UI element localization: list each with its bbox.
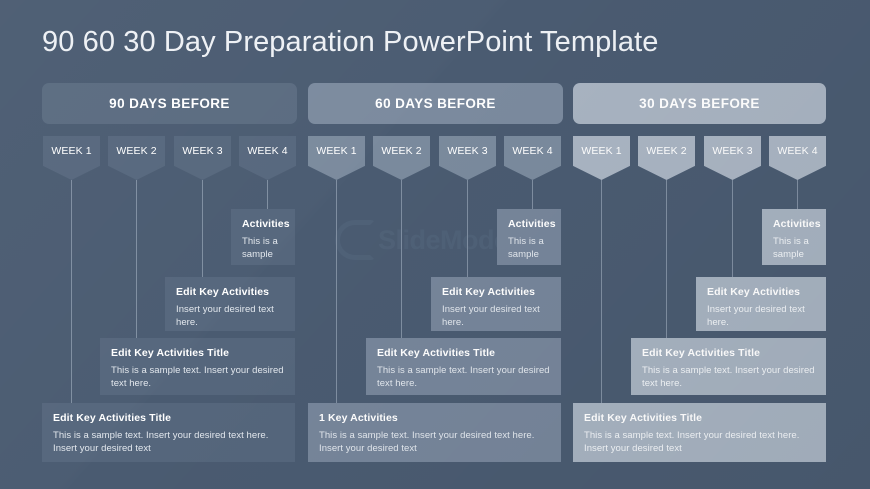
card-title: Edit Key Activities [707,286,815,299]
card-body: This is a sample text. Insert your desir… [319,429,550,457]
card-title: 1 Key Activities [319,412,550,425]
connector-line-week-1 [71,180,72,404]
card-body: This is a sample text. Insert your desir… [53,429,284,457]
connector-line-week-2 [401,180,402,339]
week-marker-label: WEEK 3 [447,145,487,157]
week-marker-1[interactable]: WEEK 1 [573,136,630,180]
week-marker-2[interactable]: WEEK 2 [638,136,695,180]
column-header-90-days[interactable]: 90 DAYS BEFORE [42,83,297,124]
card-title: Activities [242,218,284,231]
activity-card-week-3[interactable]: Edit Key Activities Insert your desired … [696,277,826,331]
card-title: Edit Key Activities Title [377,347,550,360]
connector-line-week-1 [601,180,602,404]
week-marker-label: WEEK 3 [712,145,752,157]
slide-canvas: SlideModel 90 60 30 Day Preparation Powe… [0,0,870,489]
connector-line-week-3 [732,180,733,278]
week-marker-3[interactable]: WEEK 3 [439,136,496,180]
week-marker-label: WEEK 4 [777,145,817,157]
week-marker-label: WEEK 1 [581,145,621,157]
activity-card-week-3[interactable]: Edit Key Activities Insert your desired … [431,277,561,331]
card-title: Edit Key Activities Title [642,347,815,360]
card-body: Insert your desired text here. [442,303,550,331]
card-body: This is a sample text. Insert your desir… [584,429,815,457]
activity-card-week-1[interactable]: Edit Key Activities Title This is a samp… [573,403,826,462]
card-body: This is a sample text. Insert your desir… [642,364,815,392]
activity-card-week-1[interactable]: Edit Key Activities Title This is a samp… [42,403,295,462]
activity-card-week-1[interactable]: 1 Key Activities This is a sample text. … [308,403,561,462]
connector-line-week-3 [467,180,468,278]
card-body: Insert your desired text here. [176,303,284,331]
week-marker-label: WEEK 2 [381,145,421,157]
card-body: This is a sample text. [773,235,815,265]
card-body: This is a sample text. Insert your desir… [377,364,550,392]
connector-line-week-2 [666,180,667,339]
activity-card-week-4[interactable]: Activities This is a sample text. [231,209,295,265]
week-marker-1[interactable]: WEEK 1 [43,136,100,180]
week-marker-label: WEEK 2 [116,145,156,157]
week-marker-4[interactable]: WEEK 4 [769,136,826,180]
week-marker-4[interactable]: WEEK 4 [239,136,296,180]
activity-card-week-2[interactable]: Edit Key Activities Title This is a samp… [366,338,561,395]
connector-line-week-1 [336,180,337,404]
column-header-label: 30 DAYS BEFORE [639,96,760,111]
watermark-text: SlideModel [378,225,516,256]
card-title: Edit Key Activities [442,286,550,299]
card-title: Edit Key Activities Title [53,412,284,425]
connector-line-week-2 [136,180,137,339]
week-marker-label: WEEK 3 [182,145,222,157]
connector-line-week-4 [267,180,268,210]
week-marker-label: WEEK 1 [51,145,91,157]
week-marker-3[interactable]: WEEK 3 [704,136,761,180]
column-header-60-days[interactable]: 60 DAYS BEFORE [308,83,563,124]
card-body: This is a sample text. Insert your desir… [111,364,284,392]
week-marker-label: WEEK 1 [316,145,356,157]
card-body: This is a sample text. [242,235,284,265]
week-marker-label: WEEK 2 [646,145,686,157]
connector-line-week-4 [797,180,798,210]
week-marker-label: WEEK 4 [512,145,552,157]
card-title: Edit Key Activities Title [584,412,815,425]
column-header-label: 60 DAYS BEFORE [375,96,496,111]
week-marker-2[interactable]: WEEK 2 [373,136,430,180]
week-marker-3[interactable]: WEEK 3 [174,136,231,180]
column-header-label: 90 DAYS BEFORE [109,96,230,111]
activity-card-week-2[interactable]: Edit Key Activities Title This is a samp… [631,338,826,395]
week-marker-4[interactable]: WEEK 4 [504,136,561,180]
card-body: Insert your desired text here. [707,303,815,331]
card-title: Edit Key Activities [176,286,284,299]
activity-card-week-2[interactable]: Edit Key Activities Title This is a samp… [100,338,295,395]
week-marker-label: WEEK 4 [247,145,287,157]
connector-line-week-4 [532,180,533,210]
connector-line-week-3 [202,180,203,278]
card-body: This is a sample text. [508,235,550,265]
column-header-30-days[interactable]: 30 DAYS BEFORE [573,83,826,124]
activity-card-week-4[interactable]: Activities This is a sample text. [762,209,826,265]
page-title: 90 60 30 Day Preparation PowerPoint Temp… [42,26,658,59]
card-title: Activities [508,218,550,231]
card-title: Activities [773,218,815,231]
activity-card-week-4[interactable]: Activities This is a sample text. [497,209,561,265]
watermark-logo-icon [335,220,375,260]
week-marker-1[interactable]: WEEK 1 [308,136,365,180]
card-title: Edit Key Activities Title [111,347,284,360]
activity-card-week-3[interactable]: Edit Key Activities Insert your desired … [165,277,295,331]
week-marker-2[interactable]: WEEK 2 [108,136,165,180]
